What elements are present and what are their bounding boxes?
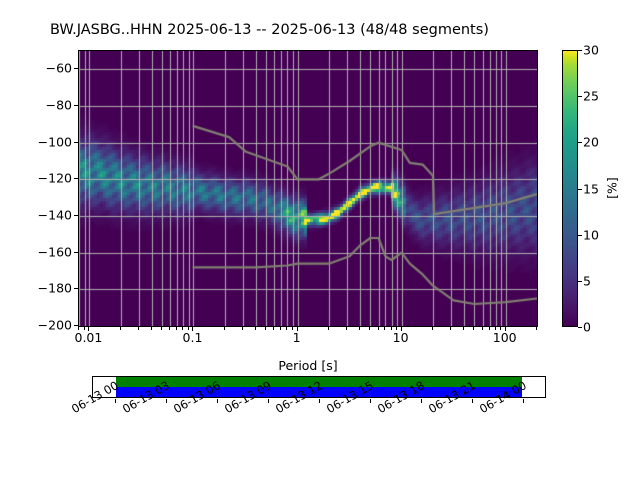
- timeline-tick-mark: [472, 399, 473, 403]
- x-axis-tick-mark: [505, 327, 506, 331]
- timeline-tick-mark: [319, 399, 320, 403]
- x-axis-tick-mark: [489, 327, 490, 330]
- x-axis-tick-mark: [450, 327, 451, 330]
- timeline-tick-mark: [217, 399, 218, 403]
- colorbar-tick-mark: [578, 281, 582, 282]
- x-axis-tick-mark: [280, 327, 281, 330]
- x-axis-tick-mark: [151, 327, 152, 330]
- timeline-tick-mark: [523, 399, 524, 403]
- colorbar-tick-label: 25: [583, 89, 599, 104]
- colorbar-tick-label: 30: [583, 43, 599, 58]
- peterson-noise-model-curves: [79, 51, 537, 326]
- x-axis-tick-mark: [138, 327, 139, 330]
- x-axis-tick-mark: [328, 327, 329, 330]
- y-axis-tick-mark: [74, 215, 78, 216]
- x-axis-tick-label: 0.01: [75, 330, 103, 345]
- y-axis-tick-label: −100: [0, 134, 72, 149]
- x-axis-tick-mark: [255, 327, 256, 330]
- x-axis-label: Period [s]: [278, 358, 337, 373]
- colorbar-tick-mark: [578, 96, 582, 97]
- x-axis-tick-mark: [391, 327, 392, 330]
- colorbar-tick-mark: [578, 235, 582, 236]
- y-axis-tick-mark: [74, 142, 78, 143]
- y-axis-tick-label: −120: [0, 171, 72, 186]
- x-axis-tick-mark: [84, 327, 85, 330]
- x-axis-tick-mark: [292, 327, 293, 330]
- colorbar-tick-label: 0: [583, 320, 591, 335]
- ppsd-plot-area[interactable]: [78, 50, 538, 327]
- timeline-tick-mark: [166, 399, 167, 403]
- colorbar-tick-mark: [578, 50, 582, 51]
- y-axis-tick-label: −60: [0, 61, 72, 76]
- x-axis-tick-mark: [176, 327, 177, 330]
- timeline-tick-mark: [370, 399, 371, 403]
- x-axis-tick-label: 0.1: [183, 330, 203, 345]
- y-axis-tick-label: −160: [0, 244, 72, 259]
- x-axis-tick-label: 10: [393, 330, 409, 345]
- y-axis-tick-mark: [74, 178, 78, 179]
- ppsd-figure: BW.JASBG..HHN 2025-06-13 -- 2025-06-13 (…: [0, 0, 640, 480]
- x-axis-tick-mark: [369, 327, 370, 330]
- y-axis-tick-label: −80: [0, 98, 72, 113]
- x-axis-tick-mark: [297, 327, 298, 331]
- x-axis-tick-mark: [359, 327, 360, 330]
- x-axis-tick-mark: [432, 327, 433, 330]
- x-axis-tick-mark: [482, 327, 483, 330]
- x-axis-tick-mark: [169, 327, 170, 330]
- timeline-tick-mark: [421, 399, 422, 403]
- x-axis-tick-mark: [88, 327, 89, 331]
- x-axis-tick-mark: [192, 327, 193, 331]
- y-axis-tick-mark: [74, 288, 78, 289]
- colorbar: [562, 50, 578, 327]
- y-axis-tick-mark: [74, 68, 78, 69]
- colorbar-tick-label: 20: [583, 135, 599, 150]
- x-axis-tick-mark: [224, 327, 225, 330]
- x-axis-tick-mark: [378, 327, 379, 330]
- x-axis-tick-mark: [188, 327, 189, 330]
- x-axis-tick-mark: [182, 327, 183, 330]
- x-axis-tick-mark: [495, 327, 496, 330]
- y-axis-tick-mark: [74, 252, 78, 253]
- y-axis-tick-mark: [74, 325, 78, 326]
- x-axis-tick-mark: [120, 327, 121, 330]
- colorbar-tick-mark: [578, 142, 582, 143]
- colorbar-tick-label: 5: [583, 273, 591, 288]
- y-axis-tick-label: −140: [0, 208, 72, 223]
- x-axis-tick-mark: [396, 327, 397, 330]
- x-axis-tick-mark: [265, 327, 266, 330]
- x-axis-tick-mark: [401, 327, 402, 331]
- x-axis-tick-label: 1: [293, 330, 301, 345]
- colorbar-tick-label: 15: [583, 181, 599, 196]
- x-axis-tick-mark: [286, 327, 287, 330]
- y-axis-tick-label: −200: [0, 318, 72, 333]
- y-axis-tick-label: −180: [0, 281, 72, 296]
- timeline-tick-mark: [268, 399, 269, 403]
- x-axis-tick-mark: [463, 327, 464, 330]
- x-axis-tick-mark: [473, 327, 474, 330]
- x-axis-tick-mark: [500, 327, 501, 330]
- x-axis-tick-mark: [78, 327, 79, 330]
- timeline-tick-mark: [115, 399, 116, 403]
- colorbar-tick-mark: [578, 327, 582, 328]
- figure-title: BW.JASBG..HHN 2025-06-13 -- 2025-06-13 (…: [50, 22, 489, 38]
- x-axis-tick-mark: [242, 327, 243, 330]
- x-axis-tick-mark: [273, 327, 274, 330]
- x-axis-tick-mark: [536, 327, 537, 330]
- x-axis-tick-mark: [346, 327, 347, 330]
- colorbar-label: [%]: [605, 177, 620, 199]
- colorbar-tick-label: 10: [583, 227, 599, 242]
- x-axis-tick-mark: [384, 327, 385, 330]
- y-axis-tick-mark: [74, 105, 78, 106]
- x-axis-tick-label: 100: [493, 330, 517, 345]
- colorbar-tick-mark: [578, 189, 582, 190]
- x-axis-tick-mark: [161, 327, 162, 330]
